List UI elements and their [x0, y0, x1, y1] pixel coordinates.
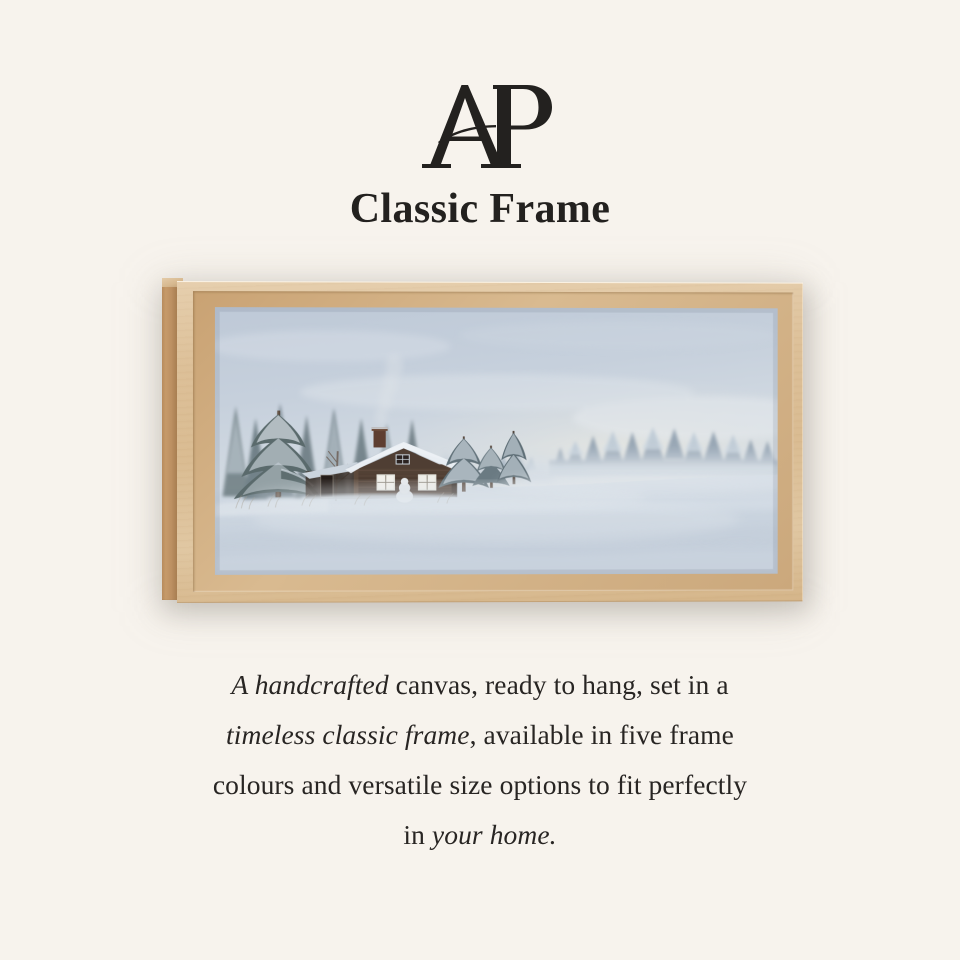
description-line-4: in your home. [120, 810, 840, 860]
description-emphasis-handcrafted: A handcrafted [231, 669, 388, 700]
description-line-1-rest: canvas, ready to hang, set in a [389, 669, 729, 700]
product-showcase-page: Classic Frame [0, 0, 960, 960]
picture-frame [162, 278, 803, 606]
ap-monogram-logo [0, 78, 960, 174]
frame-moulding-face [177, 281, 803, 603]
framed-artwork-preview[interactable] [157, 272, 813, 612]
description-line-2-rest: , available in five frame [470, 719, 734, 750]
description-line-4-rest: in [403, 819, 432, 850]
description-line-2: timeless classic frame, available in fiv… [120, 710, 840, 760]
winter-landscape-painting [215, 307, 778, 575]
frame-inner-bevel [193, 291, 793, 592]
description-line-1: A handcrafted canvas, ready to hang, set… [120, 660, 840, 710]
description-emphasis-timeless-classic-frame: timeless classic frame [226, 719, 470, 750]
page-title: Classic Frame [0, 186, 960, 232]
description-emphasis-your-home: your home. [432, 819, 557, 850]
product-description: A handcrafted canvas, ready to hang, set… [120, 660, 840, 860]
description-line-3: colours and versatile size options to fi… [120, 760, 840, 810]
